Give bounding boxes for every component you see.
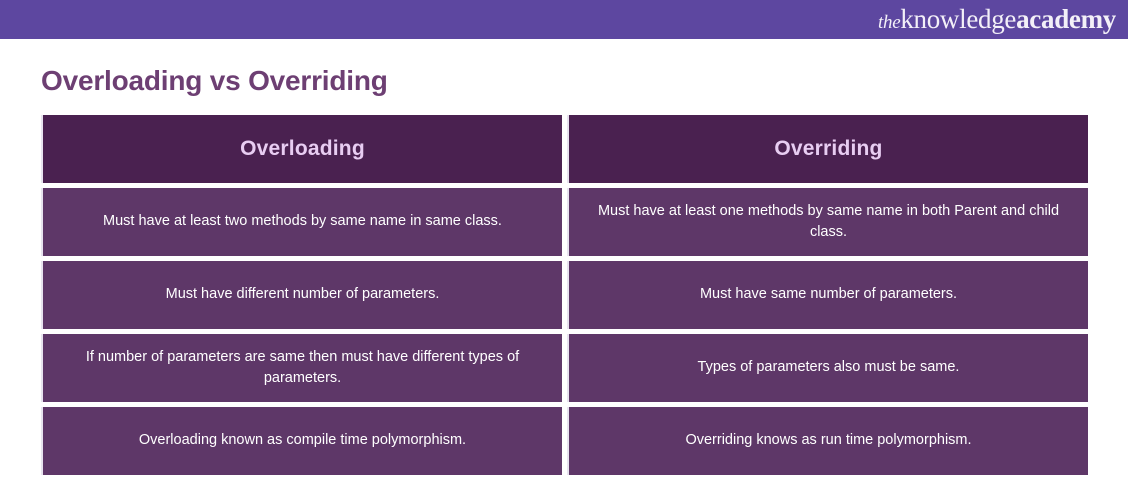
table-row: Must have different number of parameters…: [41, 261, 1088, 329]
logo-word-knowledge: knowledge: [900, 4, 1016, 34]
table-cell-text: Must have same number of parameters.: [700, 284, 957, 305]
table-cell-text: Types of parameters also must be same.: [698, 357, 960, 378]
table-row: Overloading known as compile time polymo…: [41, 407, 1088, 475]
table-cell-text: Must have at least one methods by same n…: [583, 201, 1074, 243]
page-title: Overloading vs Overriding: [41, 65, 1128, 97]
table-cell-text: Must have at least two methods by same n…: [103, 211, 502, 232]
table-cell-overloading: Must have different number of parameters…: [41, 261, 562, 329]
logo-word-the: the: [878, 12, 900, 33]
table-cell-overloading: If number of parameters are same then mu…: [41, 334, 562, 402]
comparison-table: Overloading Overriding Must have at leas…: [41, 115, 1088, 475]
column-header-label: Overriding: [774, 137, 882, 161]
column-header-overloading: Overloading: [41, 115, 562, 183]
the-knowledge-academy-logo: theknowledgeacademy: [878, 6, 1116, 33]
table-cell-overriding: Types of parameters also must be same.: [567, 334, 1088, 402]
table-header-row: Overloading Overriding: [41, 115, 1088, 183]
column-header-label: Overloading: [240, 137, 365, 161]
table-cell-text: If number of parameters are same then mu…: [57, 347, 548, 389]
brand-band: theknowledgeacademy: [0, 0, 1128, 39]
table-cell-overriding: Must have same number of parameters.: [567, 261, 1088, 329]
table-cell-overriding: Must have at least one methods by same n…: [567, 188, 1088, 256]
table-cell-text: Overriding knows as run time polymorphis…: [685, 430, 971, 451]
table-row: If number of parameters are same then mu…: [41, 334, 1088, 402]
table-cell-overloading: Must have at least two methods by same n…: [41, 188, 562, 256]
table-cell-overloading: Overloading known as compile time polymo…: [41, 407, 562, 475]
table-cell-overriding: Overriding knows as run time polymorphis…: [567, 407, 1088, 475]
table-cell-text: Overloading known as compile time polymo…: [139, 430, 466, 451]
table-cell-text: Must have different number of parameters…: [166, 284, 440, 305]
logo-word-academy: academy: [1016, 4, 1116, 34]
table-row: Must have at least two methods by same n…: [41, 188, 1088, 256]
column-header-overriding: Overriding: [567, 115, 1088, 183]
